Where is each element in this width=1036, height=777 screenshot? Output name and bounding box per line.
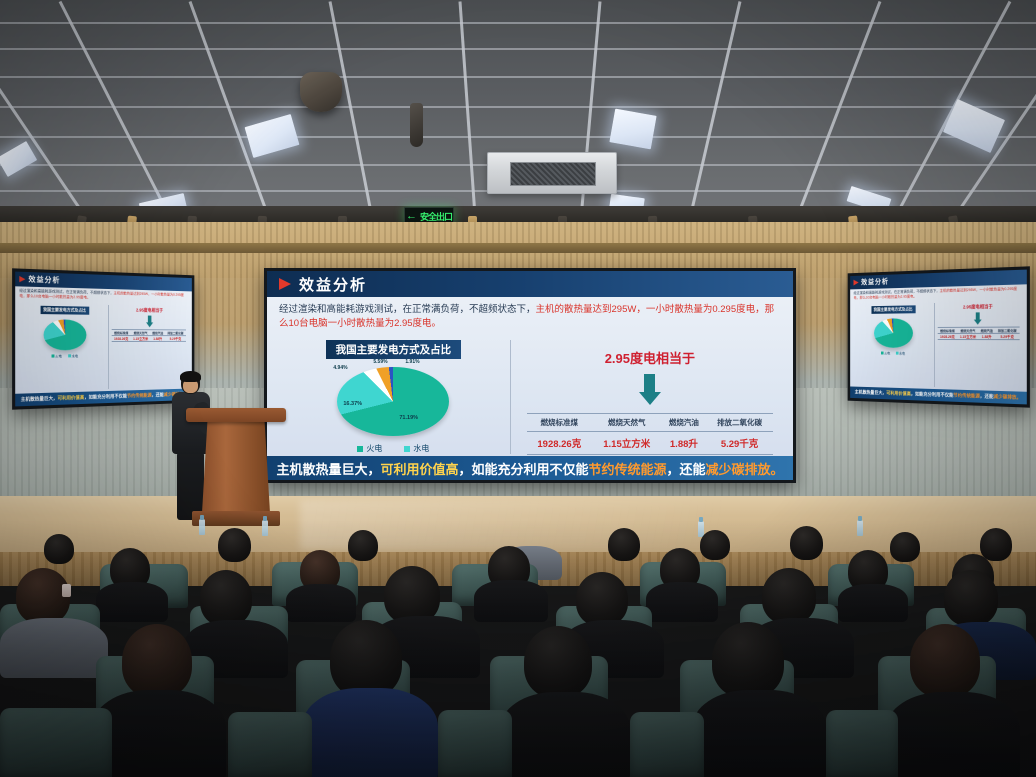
table-row: 1928.26克 1.15立方米 1.88升 5.29千克 [527,431,773,454]
banner-seg-4: 节约传统能源 [953,393,980,400]
phone-screen [62,584,71,597]
table-cell: 5.29千克 [995,334,1020,340]
banner-seg-3: ，如能充分利用不仅能 [458,459,588,478]
audience-head [348,530,378,561]
table-header-cell: 燃烧汽油 [979,328,995,334]
banner-seg-2: 可利用价值高 [58,395,85,402]
pie-label-wind: 5.59% [373,359,387,365]
side-screen-right: 效益分析 经过渲染和高能耗游戏测试，在正常满负荷，不超频状态下，主机的散热量达到… [848,266,1030,407]
table-header-cell: 燃烧标准煤 [527,413,592,431]
auditorium-scene: ← 安全出口 效益分析 经过渲染和高能耗游戏测试，在正常满负荷，不超频状态下，主… [0,0,1036,777]
audience-head [608,528,640,561]
audience-body [92,690,226,777]
chart-legend: 火电 水电 [357,443,429,454]
table-cell: 1928.26克 [938,334,958,340]
audience-head [944,570,998,626]
equivalence-table: 燃烧标准煤 燃烧天然气 燃烧汽油 排放二氧化碳 1928.26克 1.15立方米… [112,329,186,342]
audience-head [712,622,784,698]
equivalence-title: 2.95度电相当于 [963,304,993,311]
table-row: 1928.26克 1.15立方米 1.88升 5.29千克 [112,336,186,342]
slide-content: 效益分析 经过渲染和高能耗游戏测试，在正常满负荷，不超频状态下，主机的散热量达到… [267,271,793,480]
banner-seg-1: 主机散热量巨大， [21,396,58,403]
down-arrow-icon [639,374,661,405]
banner-seg-3: ，如能充分利用不仅能 [911,391,954,398]
table-cell: 1928.26克 [112,336,131,342]
table-cell: 1.15立方米 [957,334,978,340]
audience-head [122,624,192,698]
audience-head [910,624,980,698]
banner-seg-2: 可利用价值高 [886,390,911,397]
table-header-cell: 燃烧标准煤 [112,330,131,336]
audience-head [890,532,920,562]
audience-body [302,688,438,777]
table-row: 1928.26克 1.15立方米 1.88升 5.29千克 [938,334,1020,340]
banner-seg-5: ，还能 [980,393,994,400]
table-cell: 1.15立方米 [131,336,151,342]
equivalence-table: 燃烧标准煤 燃烧天然气 燃烧汽油 排放二氧化碳 1928.26克 1.15立方米… [527,413,773,455]
chart-panel: 我国主要发电方式及占比 71.19% 16.37% 4.94% 5.59% 1.… [277,340,510,455]
side-screen-left: 效益分析 经过渲染和高能耗游戏测试，在正常满负荷，不超频状态下，主机的散热量达到… [12,268,194,409]
table-cell: 1.88升 [150,336,164,342]
banner-seg-6: 减少碳排放。 [706,459,784,478]
table-header-cell: 燃烧汽油 [662,413,707,431]
slide-banner: 主机散热量巨大，可利用价值高，如能充分利用不仅能节约传统能源，还能减少碳排放。 [267,456,793,480]
audience-body [838,584,908,622]
table-header-cell: 燃烧天然气 [592,413,662,431]
banner-seg-1: 主机散热量巨大， [855,389,887,396]
banner-seg-5: ，还能 [667,459,706,478]
table-header-cell: 排放二氧化碳 [706,413,773,431]
table-header-cell: 燃烧标准煤 [938,328,958,334]
audience-body [286,584,356,622]
auditorium-seat [438,710,512,777]
podium-top [186,408,286,422]
legend-swatch-thermal [51,355,54,358]
wall-ledge [0,243,1036,253]
pie-chart: 71.19% 16.37% 4.94% 5.59% 1.91% [337,367,449,437]
table-header-cell: 燃烧天然气 [131,330,151,336]
podium-body [202,421,270,513]
table-cell: 5.29千克 [706,431,773,454]
ceiling-light-panel [609,109,656,150]
slide-title: 效益分析 [299,274,367,295]
slide-body: 我国主要发电方式及占比 71.19% 16.37% 4.94% 5.59% 1.… [267,336,793,457]
slide-paragraph: 经过渲染和高能耗游戏测试，在正常满负荷，不超频状态下，主机的散热量达到295W，… [267,297,793,336]
pie-label-nuclear: 4.94% [333,365,347,371]
table-header-row: 燃烧标准煤 燃烧天然气 燃烧汽油 排放二氧化碳 [527,413,773,431]
audience-body [474,580,548,622]
table-header-cell: 排放二氧化碳 [165,330,186,336]
table-cell: 5.29千克 [165,336,186,342]
audience-head [790,526,823,560]
legend-label: 火电 [366,443,382,454]
ac-grill-icon [510,162,596,186]
pie-label-hydro: 16.37% [343,401,362,407]
ceiling [0,0,1036,232]
audience-head [330,620,402,698]
table-header-cell: 燃烧汽油 [150,330,164,336]
legend-swatch-hydro [895,352,898,355]
audience-body [886,692,1020,777]
equivalence-title: 2.95度电相当于 [136,308,163,314]
auditorium-seat [630,712,704,777]
table-cell: 1.88升 [662,431,707,454]
legend-label: 火电 [55,354,62,359]
pie-chart [43,320,86,351]
air-conditioner-unit [487,152,617,194]
table-cell: 1.15立方米 [592,431,662,454]
main-presentation-screen: 效益分析 经过渲染和高能耗游戏测试，在正常满负荷，不超频状态下，主机的散热量达到… [264,268,796,483]
table-cell: 1.88升 [979,334,995,340]
banner-seg-2: 可利用价值高 [380,459,458,478]
audience-area [0,520,1036,777]
exit-arrow-icon: ← [406,211,417,222]
legend-item: 水电 [68,354,78,359]
down-arrow-icon [146,316,153,328]
slide-header: 效益分析 [267,271,793,297]
audience-body [96,582,168,622]
legend-swatch-thermal [881,352,884,355]
ceiling-projector [300,72,342,112]
chart-title: 我国主要发电方式及占比 [871,306,915,315]
red-arrow-icon [854,280,859,286]
legend-label: 水电 [413,443,429,454]
red-arrow-icon [279,278,291,290]
banner-seg-1: 主机散热量巨大， [276,459,380,478]
audience-head [200,570,252,626]
legend-swatch-hydro [68,355,71,358]
banner-seg-6: 减少碳排放。 [994,394,1022,401]
audience-head [762,568,816,624]
audience-head [980,528,1012,561]
legend-label: 水电 [899,351,905,356]
legend-item: 火电 [51,354,62,359]
auditorium-seat [826,710,898,777]
audience-body [692,690,826,777]
pie-label-other: 1.91% [405,359,419,365]
chart-title: 我国主要发电方式及占比 [40,306,89,315]
audience-body [0,618,108,678]
legend-item: 水电 [895,351,905,356]
audience-body [500,692,630,777]
equivalence-title: 2.95度电相当于 [605,348,695,367]
legend-item-thermal: 火电 [357,443,382,454]
legend-swatch-hydro [404,446,410,452]
pie-label-thermal: 71.19% [399,415,418,421]
audience-head [700,530,730,560]
legend-item: 火电 [881,351,890,356]
banner-seg-4: 节约传统能源 [127,393,152,400]
audience-head [576,572,628,626]
podium [186,408,286,526]
projector-mount [410,103,423,147]
banner-seg-5: ，还能 [152,392,164,398]
table-header-cell: 排放二氧化碳 [995,327,1020,333]
chart-title: 我国主要发电方式及占比 [326,340,462,359]
auditorium-seat [0,708,112,777]
banner-seg-4: 节约传统能源 [589,459,667,478]
legend-label: 火电 [884,351,890,356]
legend-item-hydro: 水电 [404,443,429,454]
presenter-hair [180,371,201,382]
table-cell: 1928.26克 [527,431,592,454]
legend-label: 水电 [72,354,79,359]
audience-body [646,582,718,622]
audience-head [218,528,251,562]
audience-head [524,626,592,698]
audience-head [44,534,74,564]
pie-chart [874,319,913,349]
slide-title: 效益分析 [861,277,889,288]
auditorium-seat [228,712,312,777]
legend-swatch-thermal [357,446,363,452]
down-arrow-icon [974,313,982,325]
banner-seg-3: ，如能充分利用不仅能 [84,393,127,400]
slide-title: 效益分析 [28,274,60,285]
slide-paragraph-part1: 经过渲染和高能耗游戏测试，在正常满负荷，不超频状态下， [279,304,536,315]
equivalence-table: 燃烧标准煤 燃烧天然气 燃烧汽油 排放二氧化碳 1928.26克 1.15立方米… [938,327,1020,341]
ceiling-beam [0,206,1036,223]
equivalence-panel: 2.95度电相当于 燃烧标准煤 燃烧天然气 燃烧汽油 排放二氧化碳 [510,340,783,455]
red-arrow-icon [19,276,25,282]
